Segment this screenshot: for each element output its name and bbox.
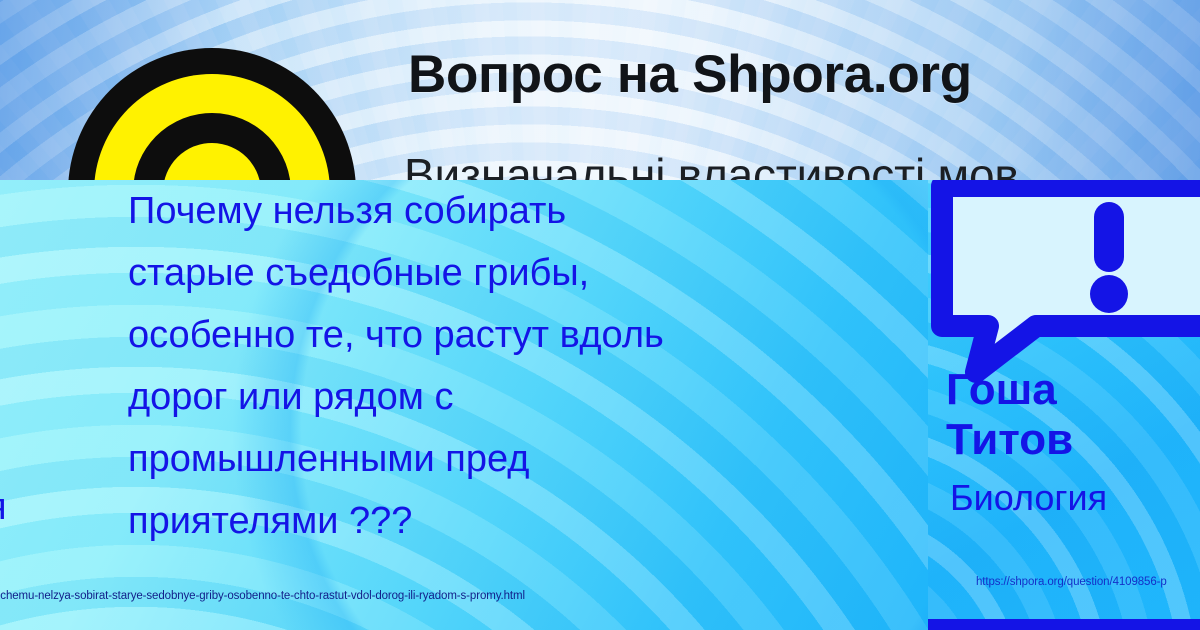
page-title: Вопрос на Shpora.org (408, 44, 972, 105)
question-panel: Почему нельзя собирать старые съедобные … (0, 180, 928, 630)
clipped-letter-fragment: я (0, 488, 7, 526)
author-panel: Гоша Титов Биология https://shpora.org/q… (928, 180, 1200, 630)
question-permalink[interactable]: https://shpora.org/question/4109856-p (976, 576, 1167, 588)
author-name-line: Титов (946, 415, 1200, 465)
question-line: старые съедобные грибы, (128, 242, 928, 304)
question-line: приятелями ??? (128, 490, 928, 552)
subject-label: Биология (950, 477, 1200, 519)
author-name: Гоша Титов (946, 365, 1200, 465)
author-panel-bottom-bar (928, 619, 1200, 630)
author-name-line: Гоша (946, 365, 1200, 415)
speech-bubble (928, 180, 1200, 388)
question-line: промышленными пред (128, 428, 928, 490)
question-url-slug[interactable]: ochemu-nelzya-sobirat-starye-sedobnye-gr… (0, 590, 525, 602)
question-text: Почему нельзя собирать старые съедобные … (128, 180, 928, 552)
question-line: особенно те, что растут вдоль (128, 304, 928, 366)
shpora-question-card: Вопрос на Shpora.org Визначальні властив… (0, 0, 1200, 630)
speech-bubble-exclamation-icon (928, 180, 1200, 388)
question-line: дорог или рядом с (128, 366, 928, 428)
question-line: Почему нельзя собирать (128, 180, 928, 242)
